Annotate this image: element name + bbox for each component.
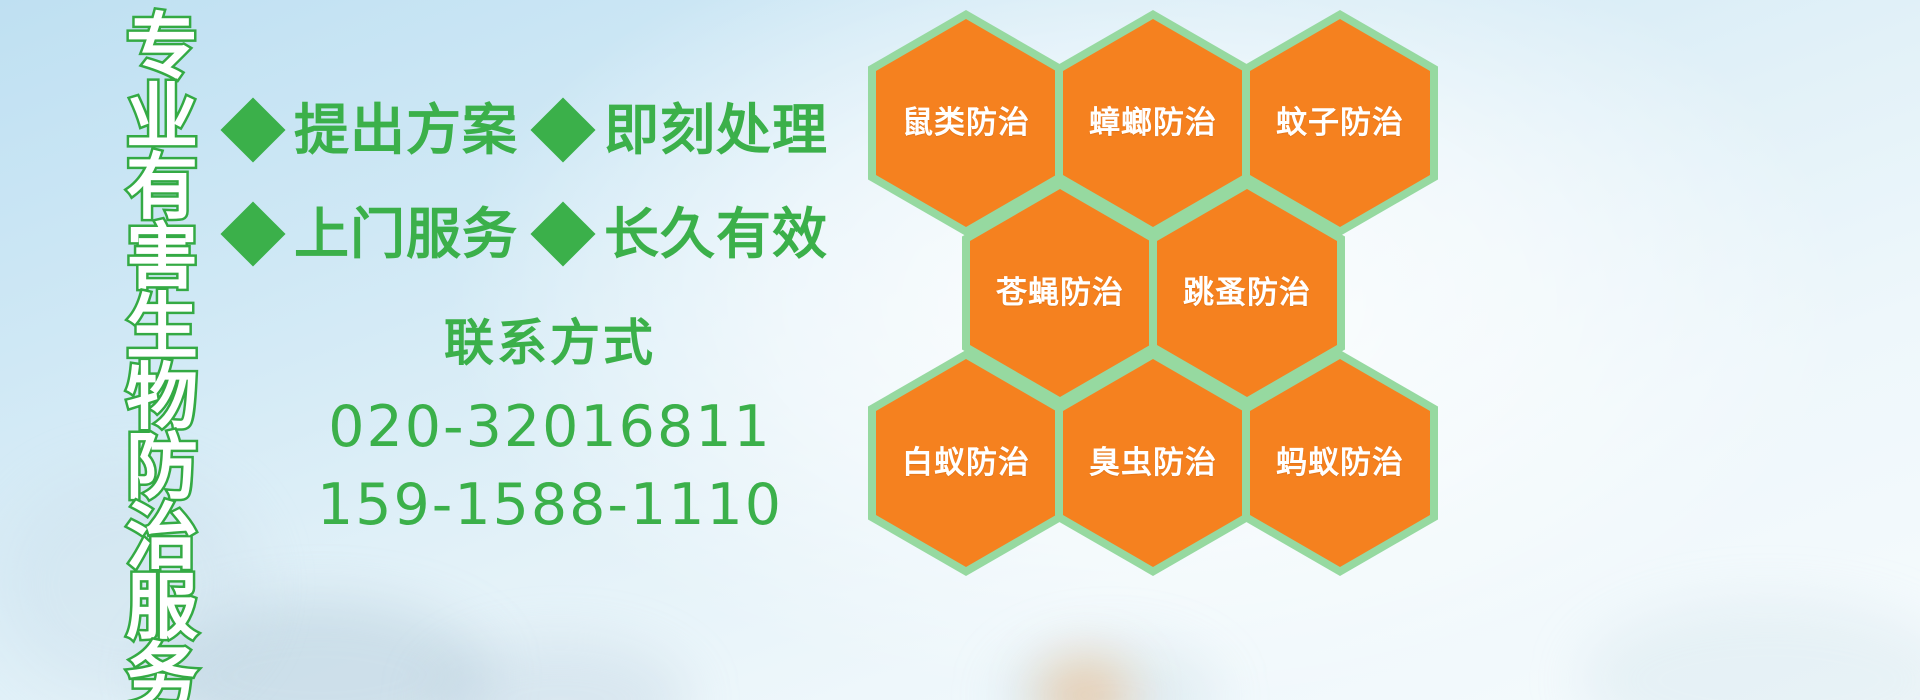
feature-item-onsite-service: 上门服务: [230, 205, 518, 263]
feature-label: 上门服务: [294, 205, 518, 263]
service-hex-termite[interactable]: 白蚁防治: [868, 350, 1064, 576]
service-label: 苍蝇防治: [996, 276, 1124, 310]
feature-label: 即刻处理: [604, 101, 828, 159]
service-label: 蟑螂防治: [1089, 106, 1217, 140]
service-label: 臭虫防治: [1089, 446, 1217, 480]
feature-row: 上门服务 长久有效: [230, 182, 870, 286]
vertical-headline-char: 有: [126, 152, 198, 222]
feature-item-long-lasting: 长久有效: [540, 205, 828, 263]
service-hex-bedbug[interactable]: 臭虫防治: [1055, 350, 1251, 576]
vertical-headline: 专 业 有 害 生 物 防 治 服 务: [108, 12, 216, 672]
diamond-icon: [220, 201, 285, 266]
background-blur-blob: [1580, 600, 1920, 700]
feature-label: 提出方案: [294, 101, 518, 159]
vertical-headline-char: 服: [126, 572, 198, 642]
phone-number-landline[interactable]: 020-32016811: [300, 388, 800, 466]
service-label: 蚊子防治: [1276, 106, 1404, 140]
feature-item-immediate-handling: 即刻处理: [540, 101, 828, 159]
vertical-headline-char: 治: [126, 502, 198, 572]
background-blur-blob: [430, 640, 690, 700]
service-label: 蚂蚁防治: [1276, 446, 1404, 480]
service-honeycomb: 鼠类防治 蟑螂防治 蚊子防治 苍蝇防治 跳蚤防治 白蚁防治: [860, 0, 1480, 700]
service-label: 白蚁防治: [902, 446, 1030, 480]
diamond-icon: [530, 97, 595, 162]
service-label: 鼠类防治: [902, 106, 1030, 140]
contact-heading: 联系方式: [300, 310, 800, 376]
vertical-headline-char: 专: [126, 12, 198, 82]
vertical-headline-char: 务: [126, 642, 198, 700]
phone-number-mobile[interactable]: 159-1588-1110: [300, 466, 800, 544]
promo-banner: 专 业 有 害 生 物 防 治 服 务 提出方案 即刻处理 上门服务: [0, 0, 1920, 700]
service-hex-ant[interactable]: 蚂蚁防治: [1242, 350, 1438, 576]
service-label: 跳蚤防治: [1183, 276, 1311, 310]
vertical-headline-char: 生: [126, 292, 198, 362]
contact-block: 联系方式 020-32016811 159-1588-1110: [300, 310, 800, 544]
feature-row: 提出方案 即刻处理: [230, 78, 870, 182]
vertical-headline-char: 害: [126, 222, 198, 292]
vertical-headline-char: 防: [126, 432, 198, 502]
feature-list: 提出方案 即刻处理 上门服务 长久有效: [230, 78, 870, 286]
diamond-icon: [530, 201, 595, 266]
diamond-icon: [220, 97, 285, 162]
vertical-headline-char: 物: [126, 362, 198, 432]
feature-item-propose-plan: 提出方案: [230, 101, 518, 159]
vertical-headline-char: 业: [126, 82, 198, 152]
feature-label: 长久有效: [604, 205, 828, 263]
